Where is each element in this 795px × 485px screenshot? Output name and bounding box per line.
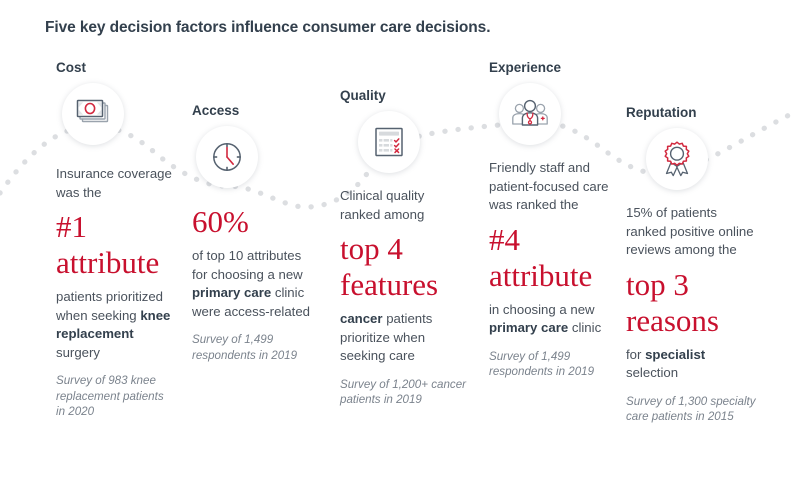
factor-body-cost: Insurance coverage was the #1 attribute … <box>56 165 174 420</box>
factor-stat-cost: #1 attribute <box>56 209 174 281</box>
factor-label-reputation: Reputation <box>626 105 756 121</box>
factor-trail-cost: patients prioritized when seeking knee r… <box>56 288 174 362</box>
factor-lead-quality: Clinical quality ranked among <box>340 187 468 224</box>
factor-label-experience: Experience <box>489 60 611 76</box>
factor-body-quality: Clinical quality ranked among top 4 feat… <box>340 187 468 408</box>
factor-label-cost: Cost <box>56 60 174 76</box>
factor-trail-experience: in choosing a new primary care clinic <box>489 301 611 338</box>
factor-lead-cost: Insurance coverage was the <box>56 165 174 202</box>
factor-lead-reputation: 15% of patients ranked positive online r… <box>626 204 756 260</box>
factor-column-cost: Cost Insurance coverage was the #1 attri… <box>56 60 174 420</box>
factor-trail-access: of top 10 attributes for choosing a new … <box>192 247 318 321</box>
factor-stat-experience: #4 attribute <box>489 222 611 294</box>
factor-source-reputation: Survey of 1,300 specialty care patients … <box>626 394 756 425</box>
factor-source-cost: Survey of 983 knee replacement patients … <box>56 373 174 420</box>
factor-body-experience: Friendly staff and patient-focused care … <box>489 159 611 380</box>
factor-source-access: Survey of 1,499 respondents in 2019 <box>192 332 318 363</box>
infographic-canvas: Five key decision factors influence cons… <box>0 0 795 485</box>
factor-column-quality: Quality Clinical quality ranked among <box>340 88 468 408</box>
factor-source-experience: Survey of 1,499 respondents in 2019 <box>489 349 611 380</box>
checklist-icon <box>358 111 420 173</box>
factor-source-quality: Survey of 1,200+ cancer patients in 2019 <box>340 377 468 408</box>
factor-stat-access: 60% <box>192 204 318 240</box>
clock-icon <box>196 126 258 188</box>
factor-column-reputation: Reputation 15% of patients ranked positi… <box>626 105 756 425</box>
factor-lead-experience: Friendly staff and patient-focused care … <box>489 159 611 215</box>
award-ribbon-icon <box>646 128 708 190</box>
page-title: Five key decision factors influence cons… <box>45 19 490 37</box>
care-team-icon <box>499 83 561 145</box>
factor-label-quality: Quality <box>340 88 468 104</box>
factor-column-experience: Experience Friendly staff and patient-fo… <box>489 60 611 380</box>
factor-body-reputation: 15% of patients ranked positive online r… <box>626 204 756 425</box>
factor-column-access: Access 60% of top 10 attributes for choo… <box>192 103 318 363</box>
factor-trail-quality: cancer patients prioritize when seeking … <box>340 310 468 366</box>
factor-body-access: 60% of top 10 attributes for choosing a … <box>192 204 318 363</box>
factor-stat-quality: top 4 features <box>340 231 468 303</box>
factor-label-access: Access <box>192 103 318 119</box>
money-bills-icon <box>62 83 124 145</box>
factor-trail-reputation: for specialist selection <box>626 346 756 383</box>
factor-stat-reputation: top 3 reasons <box>626 267 756 339</box>
